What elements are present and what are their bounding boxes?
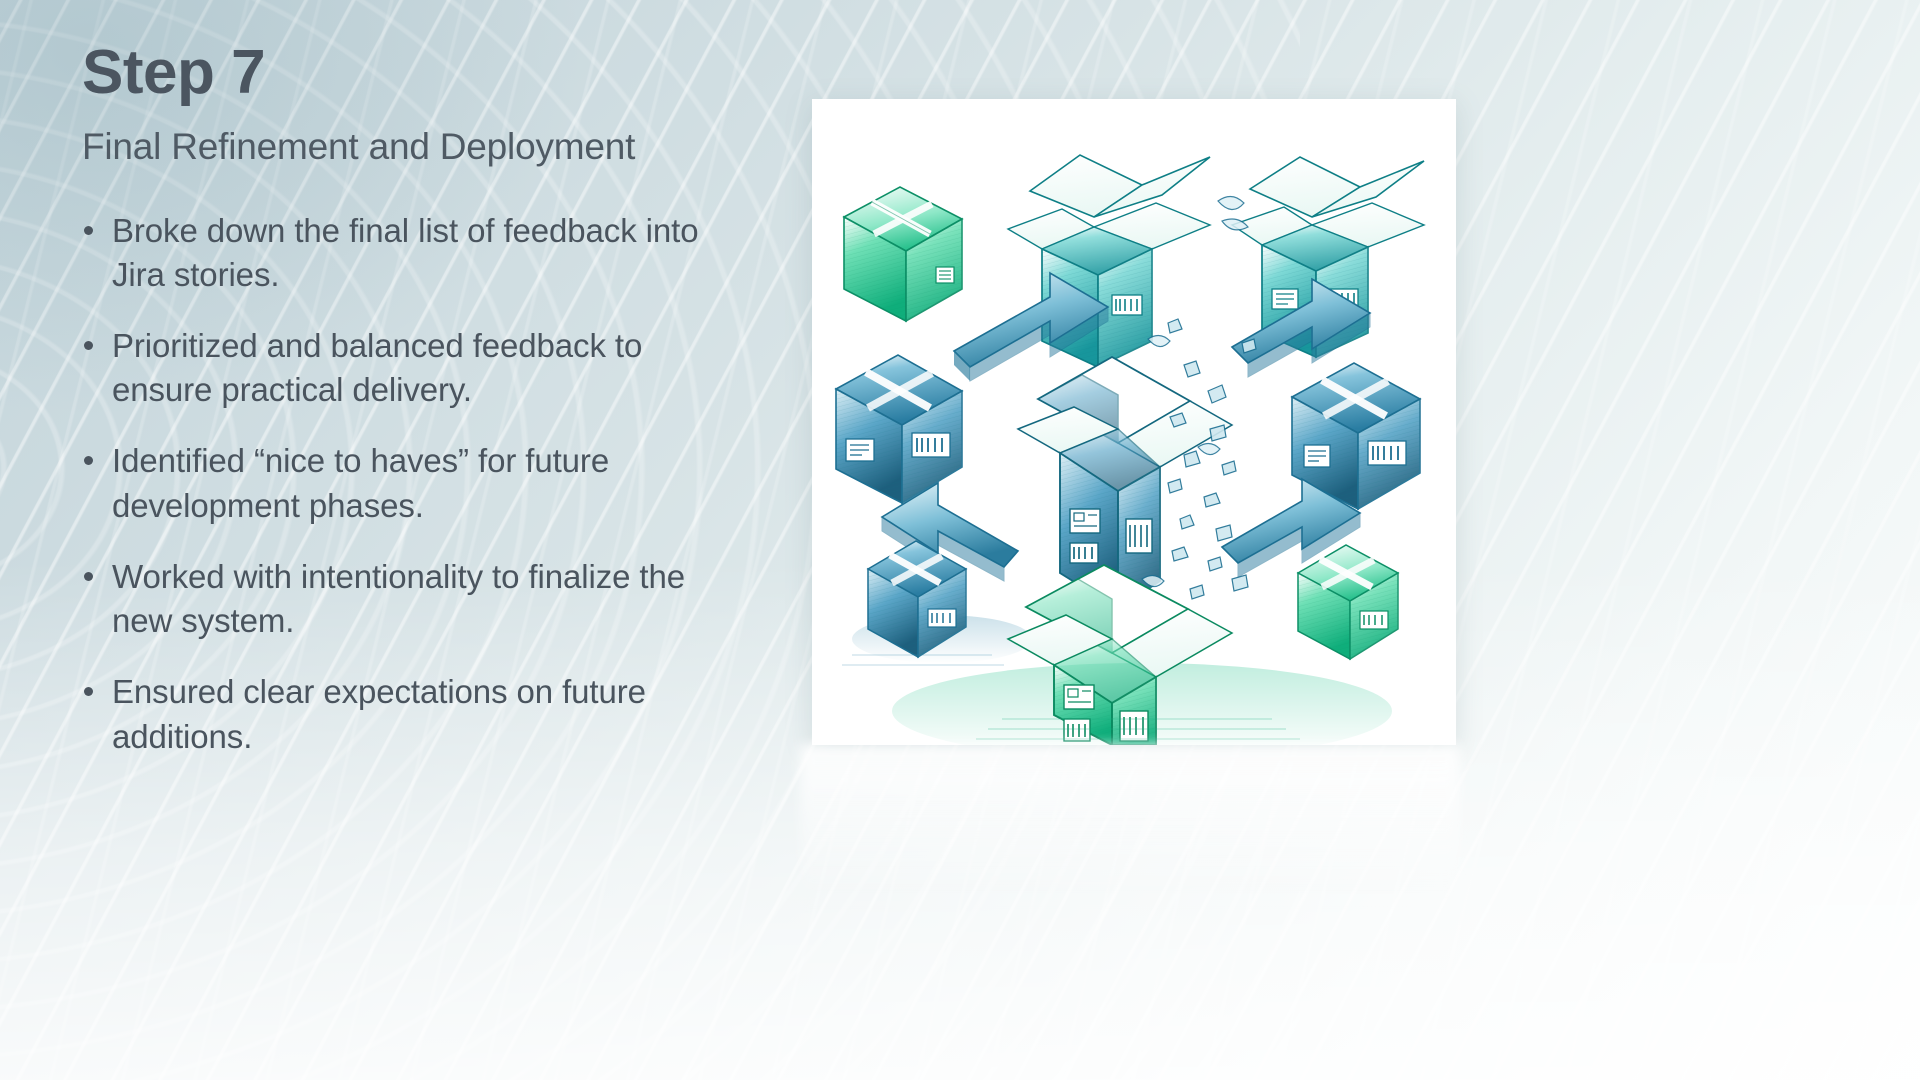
list-item: Prioritized and balanced feedback to ens… xyxy=(82,324,742,412)
list-item: Worked with intentionality to finalize t… xyxy=(82,555,742,643)
content-column: Step 7 Final Refinement and Deployment B… xyxy=(82,42,742,786)
list-item: Identified “nice to haves” for future de… xyxy=(82,439,742,527)
bullet-list: Broke down the final list of feedback in… xyxy=(82,209,742,759)
illustration-panel xyxy=(812,99,1456,745)
illustration-panel-reflection xyxy=(800,745,1460,905)
slide-canvas: Step 7 Final Refinement and Deployment B… xyxy=(0,0,1920,1080)
page-title: Step 7 xyxy=(82,42,742,104)
list-item: Ensured clear expectations on future add… xyxy=(82,670,742,758)
list-item: Broke down the final list of feedback in… xyxy=(82,209,742,297)
isometric-boxes-illustration xyxy=(812,99,1456,745)
page-subtitle: Final Refinement and Deployment xyxy=(82,126,742,169)
